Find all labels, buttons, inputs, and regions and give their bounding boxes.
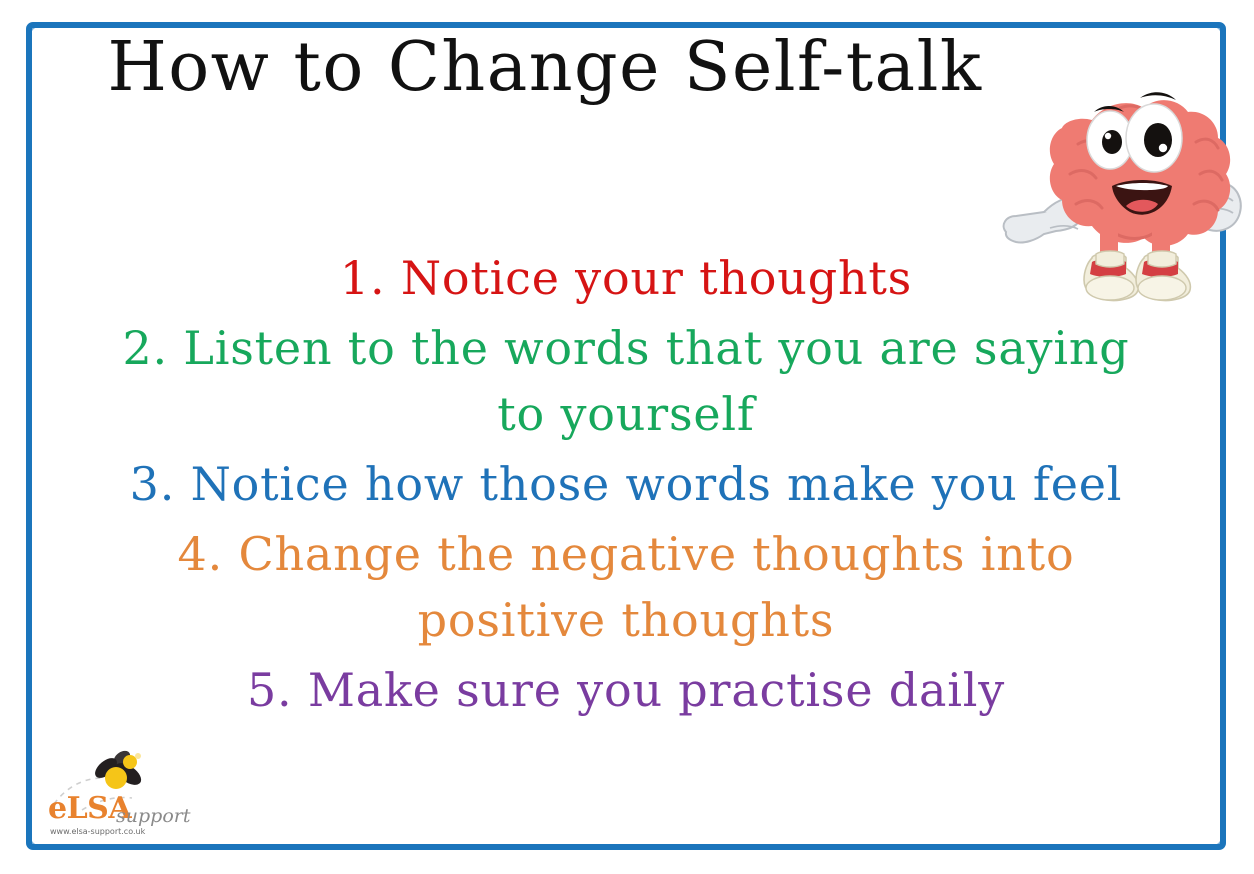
step-item-3: 3. Notice how those words make you feel bbox=[40, 451, 1212, 517]
poster-canvas: How to Change Self-talk bbox=[0, 0, 1254, 874]
poster-content: How to Change Self-talk bbox=[40, 30, 1212, 842]
steps-list: 1. Notice your thoughts 2. Listen to the… bbox=[40, 245, 1212, 723]
elsa-support-logo[interactable]: eLSA support www.elsa-support.co.uk bbox=[46, 748, 256, 840]
logo-url: www.elsa-support.co.uk bbox=[50, 827, 146, 836]
step-item-5: 5. Make sure you practise daily bbox=[40, 657, 1212, 723]
step-item-4: 4. Change the negative thoughts into pos… bbox=[40, 521, 1212, 653]
logo-brand-suffix: support bbox=[116, 805, 191, 827]
step-item-2: 2. Listen to the words that you are sayi… bbox=[40, 315, 1212, 447]
page-title: How to Change Self-talk bbox=[40, 34, 1050, 102]
bee-icon bbox=[92, 748, 145, 789]
step-item-1: 1. Notice your thoughts bbox=[40, 245, 1212, 311]
